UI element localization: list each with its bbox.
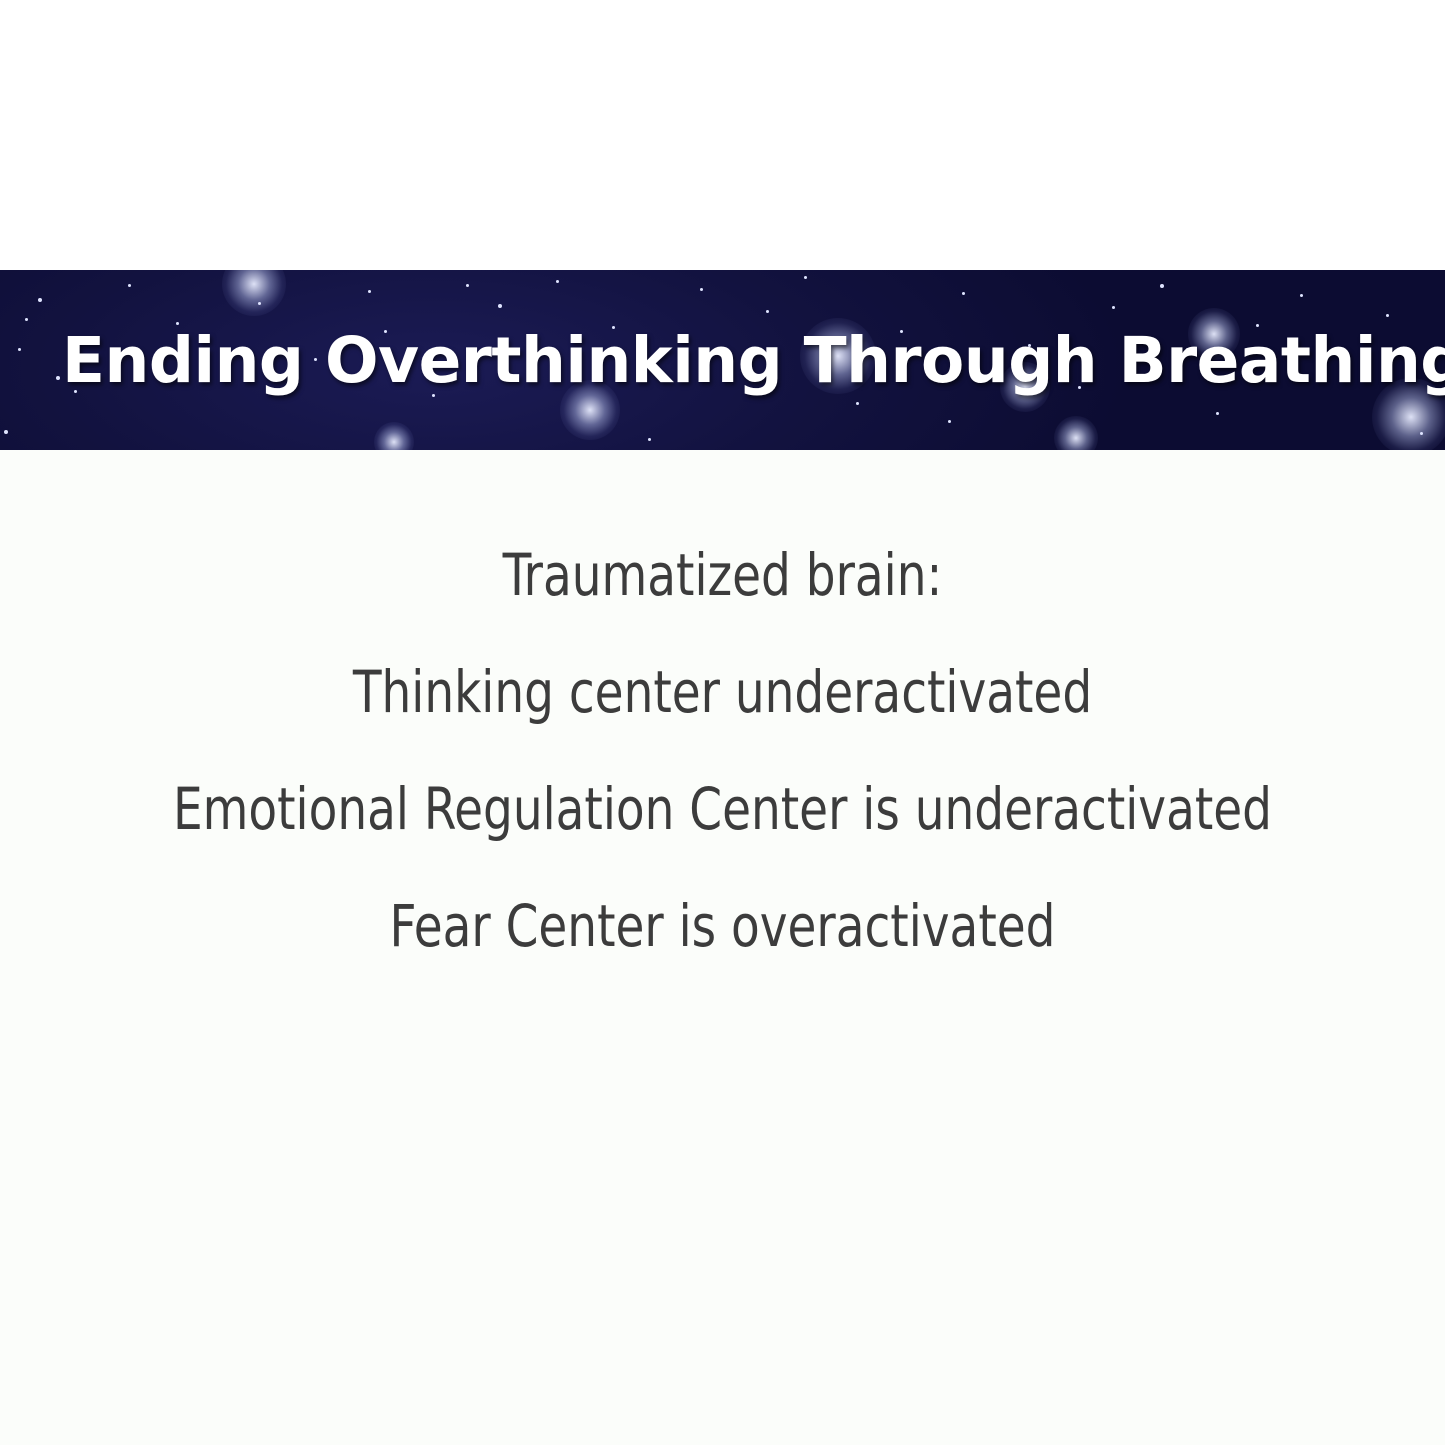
body-line-emotional: Emotional Regulation Center is underacti…	[72, 780, 1373, 838]
body-line-thinking: Thinking center underactivated	[72, 663, 1373, 721]
presentation-slide: Ending Overthinking Through Breathing Tr…	[0, 0, 1445, 1445]
body-text-block: Traumatized brain: Thinking center under…	[0, 546, 1445, 955]
point-star-icon	[38, 298, 42, 302]
title-banner: Ending Overthinking Through Breathing	[0, 270, 1445, 450]
point-star-icon	[18, 348, 21, 351]
body-line-fear: Fear Center is overactivated	[72, 897, 1373, 955]
body-line-heading: Traumatized brain:	[72, 546, 1373, 604]
point-star-icon	[56, 376, 60, 380]
point-star-icon	[4, 430, 8, 434]
point-star-icon	[25, 318, 28, 321]
slide-title: Ending Overthinking Through Breathing	[62, 270, 1445, 450]
slide-body: Traumatized brain: Thinking center under…	[0, 450, 1445, 1445]
top-white-margin	[0, 0, 1445, 270]
